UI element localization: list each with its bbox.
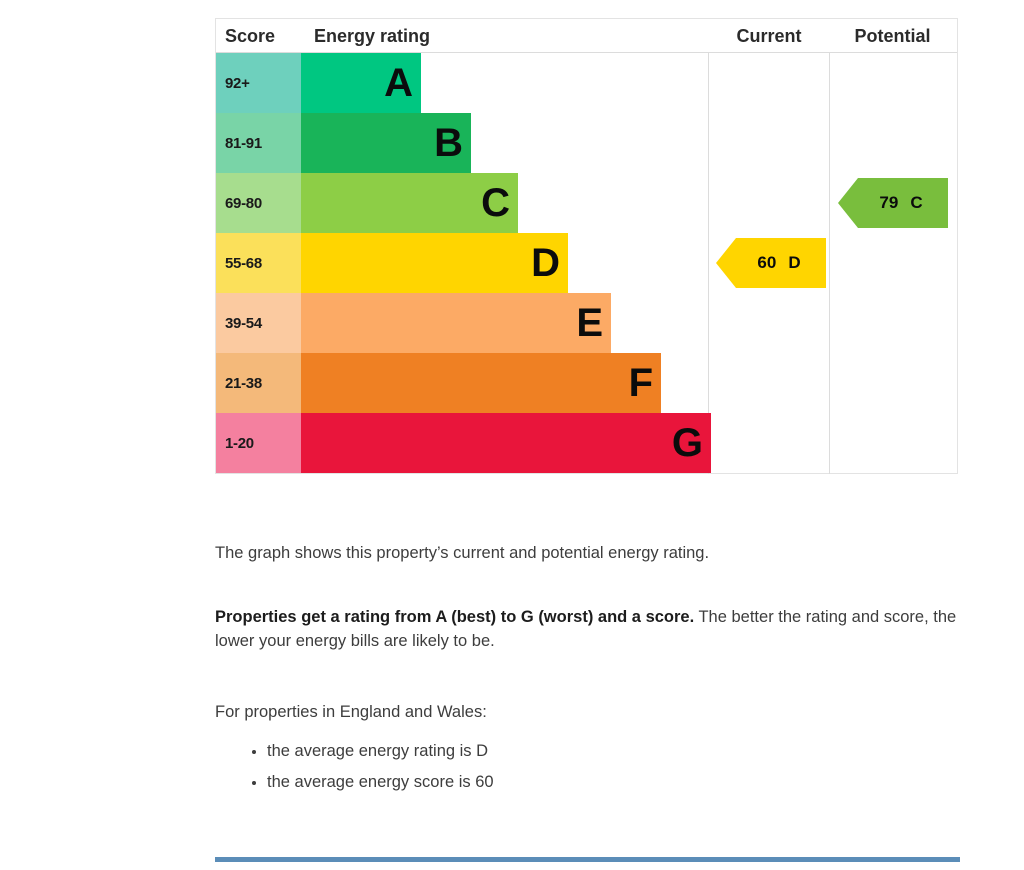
rating-row-e: 39-54E: [216, 293, 686, 353]
column-divider-current: [708, 53, 709, 474]
column-header-potential: Potential: [829, 19, 956, 53]
rating-bar-a: A: [301, 53, 421, 113]
score-range-c: 69-80: [216, 173, 301, 233]
rating-letter-f: F: [629, 363, 653, 403]
current-rating-letter: D: [788, 253, 800, 273]
current-score-value: 60: [757, 253, 776, 273]
energy-rating-chart: Score Energy rating Current Potential 92…: [215, 18, 958, 474]
rating-letter-e: E: [576, 303, 603, 343]
rating-letter-g: G: [672, 423, 703, 463]
rating-row-f: 21-38F: [216, 353, 686, 413]
rating-explanation: Properties get a rating from A (best) to…: [215, 605, 963, 654]
rating-bar-g: G: [301, 413, 711, 473]
england-wales-averages-list: the average energy rating is Dthe averag…: [237, 736, 494, 797]
rating-row-c: 69-80C: [216, 173, 686, 233]
potential-rating-letter: C: [910, 193, 922, 213]
chart-header-row: Score Energy rating Current Potential: [216, 19, 957, 53]
rating-explanation-bold: Properties get a rating from A (best) to…: [215, 608, 694, 626]
potential-score-value: 79: [879, 193, 898, 213]
rating-row-b: 81-91B: [216, 113, 686, 173]
rating-bar-e: E: [301, 293, 611, 353]
graph-description: The graph shows this property’s current …: [215, 541, 960, 565]
rating-letter-c: C: [481, 183, 510, 223]
rating-row-g: 1-20G: [216, 413, 686, 473]
column-header-energy-rating: Energy rating: [314, 19, 430, 53]
rating-bar-c: C: [301, 173, 518, 233]
epc-certificate-page: Score Energy rating Current Potential 92…: [0, 0, 1024, 870]
list-item: the average energy rating is D: [267, 736, 494, 767]
score-range-f: 21-38: [216, 353, 301, 413]
score-range-g: 1-20: [216, 413, 301, 473]
rating-row-d: 55-68D: [216, 233, 686, 293]
rating-bar-d: D: [301, 233, 568, 293]
column-header-score: Score: [225, 19, 275, 53]
list-item: the average energy score is 60: [267, 767, 494, 798]
bottom-divider: [215, 857, 960, 862]
column-divider-potential: [829, 53, 830, 474]
score-range-a: 92+: [216, 53, 301, 113]
rating-bar-f: F: [301, 353, 661, 413]
potential-rating-marker: 79C: [838, 178, 948, 228]
score-range-e: 39-54: [216, 293, 301, 353]
rating-letter-d: D: [531, 243, 560, 283]
rating-row-a: 92+A: [216, 53, 686, 113]
score-range-b: 81-91: [216, 113, 301, 173]
score-range-d: 55-68: [216, 233, 301, 293]
current-rating-marker: 60D: [716, 238, 826, 288]
column-header-current: Current: [709, 19, 829, 53]
england-wales-intro: For properties in England and Wales:: [215, 700, 960, 724]
rating-letter-a: A: [384, 63, 413, 103]
rating-bar-b: B: [301, 113, 471, 173]
rating-letter-b: B: [434, 123, 463, 163]
chart-body: 92+A81-91B69-80C55-68D39-54E21-38F1-20G6…: [216, 53, 957, 474]
